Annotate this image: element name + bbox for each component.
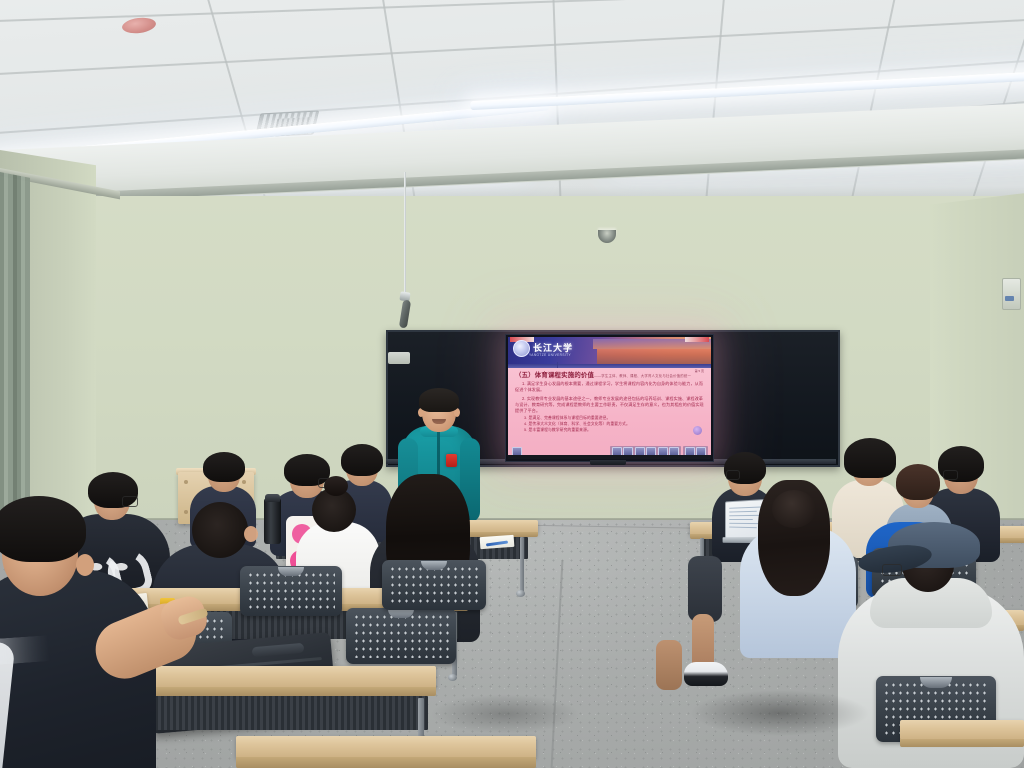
desk-edge	[236, 757, 536, 768]
chair-perforation	[389, 565, 479, 604]
thermos-cap	[265, 494, 280, 502]
instructor-emblem-icon	[446, 454, 457, 467]
presentation-display[interactable]: 长江大学 YANGTZE UNIVERSITY 第 5 页 （五）体育课程实施的…	[505, 334, 714, 462]
desk-edge	[900, 739, 1024, 747]
student-shorts	[688, 556, 722, 622]
desk-caster	[516, 590, 525, 597]
student-ear	[76, 554, 94, 576]
university-name: 长江大学	[533, 344, 573, 353]
desk-front-center	[236, 736, 536, 758]
glasses-icon	[122, 496, 138, 507]
student-hair	[844, 438, 896, 478]
banner-corner-right	[685, 337, 709, 342]
slide-banner: 长江大学 YANGTZE UNIVERSITY	[508, 337, 711, 364]
slide-paragraph: 1. 满足学生身心发展的根本需要，通过课程学习，学生将课程内容内化为自身的体验与…	[515, 381, 704, 394]
student-leg	[656, 640, 682, 690]
slide-page-number: 第 5 页	[695, 369, 704, 373]
banner-landscape	[597, 349, 711, 364]
sneaker	[684, 662, 728, 686]
instructor-hair	[419, 388, 459, 412]
glasses-icon	[726, 470, 740, 480]
university-seal-icon	[513, 340, 530, 357]
student-ear	[244, 526, 258, 542]
student-hair	[0, 496, 86, 562]
slide-title: （五）体育课程实施的价值——学生主体、教师、课程、大学育人文化与社会价值的统一	[515, 372, 704, 379]
slide-paragraph-text: 1. 满足学生身心发展的根本需要，通过课程学习，学生将课程内容内化为自身的体验与…	[515, 381, 703, 392]
student-hair	[341, 444, 383, 476]
thermos-bottle[interactable]	[264, 498, 281, 544]
slide: 长江大学 YANGTZE UNIVERSITY 第 5 页 （五）体育课程实施的…	[508, 337, 711, 459]
blackboard-clip	[388, 352, 410, 364]
student-hair	[896, 464, 940, 500]
slide-title-note: ——学生主体、教师、课程、大学育人文化与社会价值的统一	[594, 374, 691, 378]
chair-perforation	[353, 613, 449, 658]
slide-title-main: （五）体育课程实施的价值	[515, 372, 594, 379]
slide-paragraph-text: 2. 实现教师专业发展的基本途径之一，教师专业发展的途径包括的培养培训、课程实施…	[515, 396, 704, 414]
chair-perforation	[247, 571, 335, 610]
glasses-icon	[943, 470, 958, 480]
desk-right-front	[900, 720, 1024, 740]
slide-paragraph: 2. 实现教师专业发展的基本途径之一，教师专业发展的途径包括的培养培训、课程实施…	[515, 396, 704, 415]
student-head	[772, 490, 816, 528]
student-hair	[203, 452, 245, 482]
classroom-scene: 长江大学 YANGTZE UNIVERSITY 第 5 页 （五）体育课程实施的…	[0, 0, 1024, 768]
glasses-icon	[882, 564, 902, 576]
wall-panel-led	[1005, 296, 1014, 301]
university-name-en: YANGTZE UNIVERSITY	[529, 353, 571, 357]
slide-body: 第 5 页 （五）体育课程实施的价值——学生主体、教师、课程、大学育人文化与社会…	[508, 368, 711, 459]
screen-stand	[590, 460, 626, 465]
desk-caster	[448, 674, 457, 681]
student-head	[192, 502, 248, 558]
slide-watermark-icon	[693, 426, 702, 435]
hair-bun	[324, 476, 348, 496]
slide-bullet: 5. 是丰富课程与教学研究的重要来源。	[515, 427, 704, 433]
floor-shadow	[430, 694, 580, 734]
microphone-rod	[404, 172, 406, 294]
floor-shadow	[690, 690, 870, 736]
screen-bezel	[508, 455, 711, 459]
wall-control-panel[interactable]	[1002, 278, 1021, 310]
desk-leg	[520, 537, 524, 593]
